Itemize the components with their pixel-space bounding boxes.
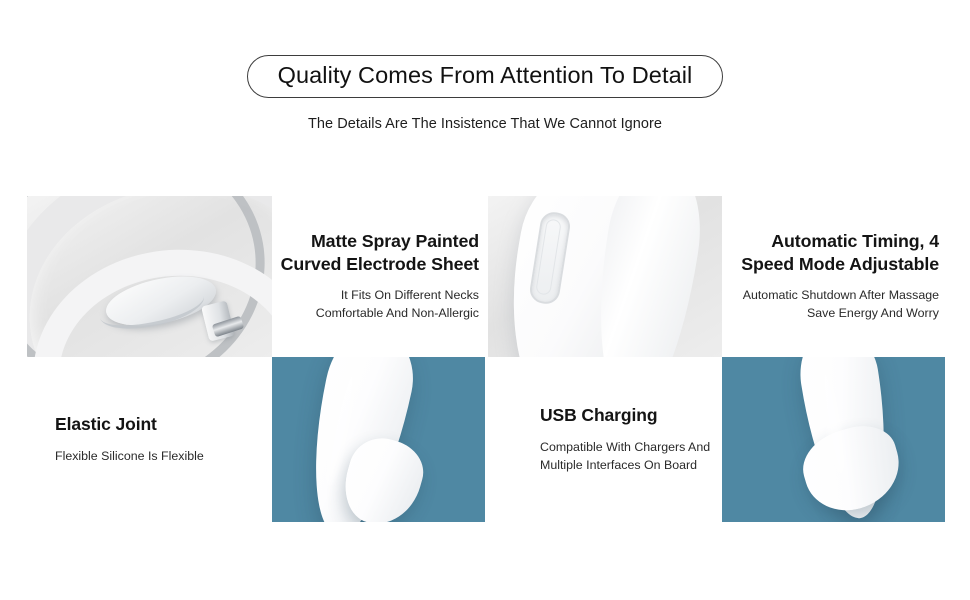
feature-title-elastic-joint: Elastic Joint (55, 413, 157, 435)
feature-description-elastic-joint: Flexible Silicone Is Flexible (55, 448, 204, 466)
product-feature-infographic: { "header": { "title": "Quality Comes Fr… (0, 0, 970, 600)
feature-description-usb-charging: Compatible With Chargers And Multiple In… (540, 439, 710, 475)
feature-text-matte-spray-painted: Matte Spray Painted Curved Electrode She… (272, 196, 485, 357)
feature-description-matte-spray-painted: It Fits On Different Necks Comfortable A… (316, 287, 479, 323)
feature-title-automatic-timing: Automatic Timing, 4 Speed Mode Adjustabl… (741, 230, 939, 275)
photo-white-arm-teal-2 (722, 357, 945, 522)
photo-usb-port (488, 196, 722, 357)
feature-grid: Matte Spray Painted Curved Electrode She… (27, 196, 945, 522)
photo-white-arm-teal (272, 357, 485, 522)
feature-text-usb-charging: USB Charging Compatible With Chargers An… (488, 357, 722, 522)
feature-description-automatic-timing: Automatic Shutdown After Massage Save En… (743, 287, 939, 323)
feature-image-neck-band-electrode (27, 196, 272, 357)
header: Quality Comes From Attention To Detail T… (0, 0, 970, 132)
photo-neck-band-electrode (27, 196, 272, 357)
feature-title-matte-spray-painted: Matte Spray Painted Curved Electrode She… (281, 230, 479, 275)
feature-title-usb-charging: USB Charging (540, 404, 657, 426)
feature-text-elastic-joint: Elastic Joint Flexible Silicone Is Flexi… (27, 357, 272, 522)
feature-image-white-arm-teal (272, 357, 485, 522)
feature-text-automatic-timing: Automatic Timing, 4 Speed Mode Adjustabl… (722, 196, 945, 357)
page-subtitle: The Details Are The Insistence That We C… (0, 116, 970, 132)
page-title: Quality Comes From Attention To Detail (247, 55, 724, 98)
feature-image-usb-port (488, 196, 722, 357)
feature-image-white-arm-teal-2 (722, 357, 945, 522)
